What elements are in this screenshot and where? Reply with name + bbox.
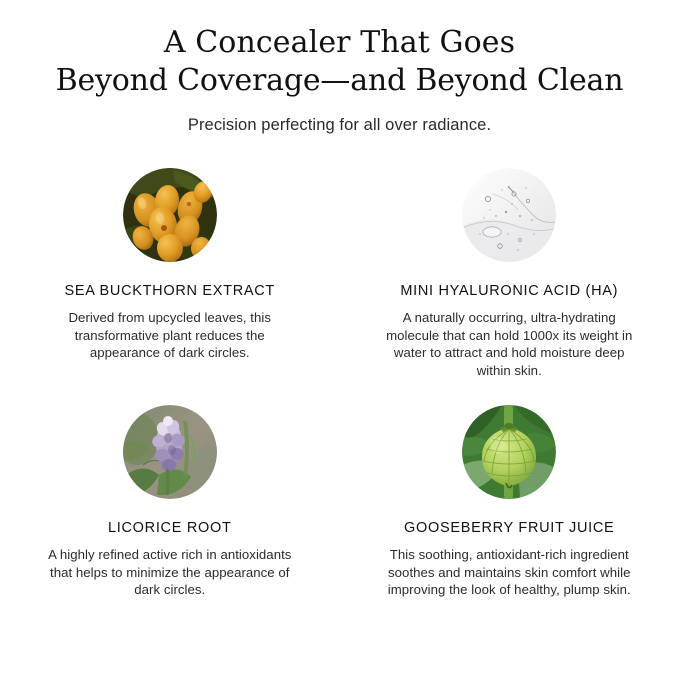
- ingredient-title: SEA BUCKTHORN EXTRACT: [65, 282, 275, 300]
- gooseberry-fruit-photo-icon: [462, 405, 556, 499]
- ingredient-description: This soothing, antioxidant-rich ingredie…: [378, 546, 640, 599]
- ingredient-grid: SEA BUCKTHORN EXTRACT Derived from upcyc…: [0, 168, 679, 599]
- ingredient-title: GOOSEBERRY FRUIT JUICE: [404, 519, 614, 537]
- ingredient-title: LICORICE ROOT: [108, 519, 232, 537]
- hyaluronic-acid-gel-texture-photo-icon: [462, 168, 556, 262]
- page-title-line-1: A Concealer That Goes: [0, 24, 679, 62]
- header: A Concealer That Goes Beyond Coverage—an…: [0, 0, 679, 136]
- ingredient-card-gooseberry: GOOSEBERRY FRUIT JUICE This soothing, an…: [340, 405, 679, 599]
- sea-buckthorn-berries-photo-icon: [123, 168, 217, 262]
- ingredient-description: Derived from upcycled leaves, this trans…: [44, 309, 296, 362]
- ingredient-title: MINI HYALURONIC ACID (HA): [400, 282, 618, 300]
- ingredient-benefits-panel: A Concealer That Goes Beyond Coverage—an…: [0, 0, 679, 679]
- ingredient-description: A naturally occurring, ultra-hydrating m…: [378, 309, 640, 379]
- page-title-line-2: Beyond Coverage—and Beyond Clean: [0, 62, 679, 100]
- ingredient-card-licorice-root: LICORICE ROOT A highly refined active ri…: [0, 405, 340, 599]
- licorice-root-flower-photo-icon: [123, 405, 217, 499]
- ingredient-description: A highly refined active rich in antioxid…: [44, 546, 296, 599]
- page-title: A Concealer That Goes Beyond Coverage—an…: [0, 24, 679, 100]
- ingredient-card-sea-buckthorn: SEA BUCKTHORN EXTRACT Derived from upcyc…: [0, 168, 340, 405]
- page-subtitle: Precision perfecting for all over radian…: [0, 114, 679, 136]
- ingredient-card-hyaluronic-acid: MINI HYALURONIC ACID (HA) A naturally oc…: [340, 168, 679, 405]
